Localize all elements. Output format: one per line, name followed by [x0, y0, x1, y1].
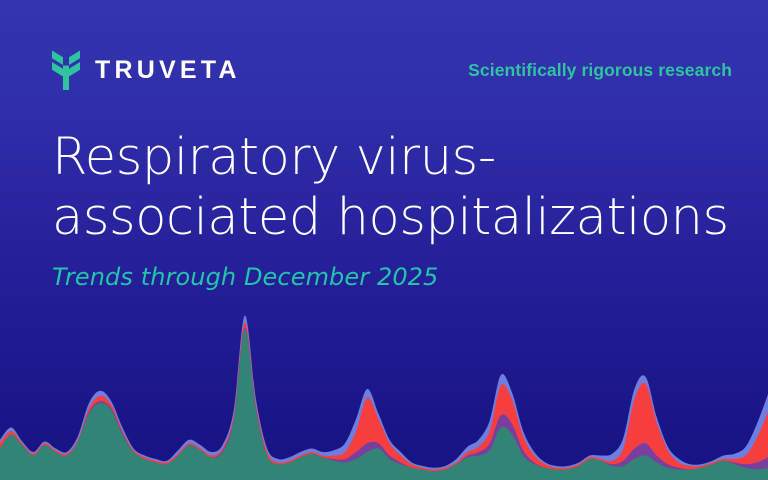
stacked-area-chart: [0, 305, 768, 480]
subtitle: Trends through December 2025: [52, 262, 742, 292]
headline-line-1: Respiratory virus-: [52, 128, 742, 188]
truveta-wordmark: TRUVETA: [95, 58, 241, 83]
chart-canvas: [0, 305, 768, 480]
tagline: Scientifically rigorous research: [468, 60, 732, 81]
truveta-wheat-chevron-logo-icon: [50, 49, 82, 91]
headline-block: Respiratory virus- associated hospitaliz…: [52, 128, 742, 292]
brand-lockup: TRUVETA: [50, 49, 241, 91]
headline-line-2: associated hospitalizations: [52, 188, 742, 248]
hero-card: TRUVETA Scientifically rigorous research…: [0, 0, 768, 480]
header: TRUVETA Scientifically rigorous research: [0, 48, 768, 92]
